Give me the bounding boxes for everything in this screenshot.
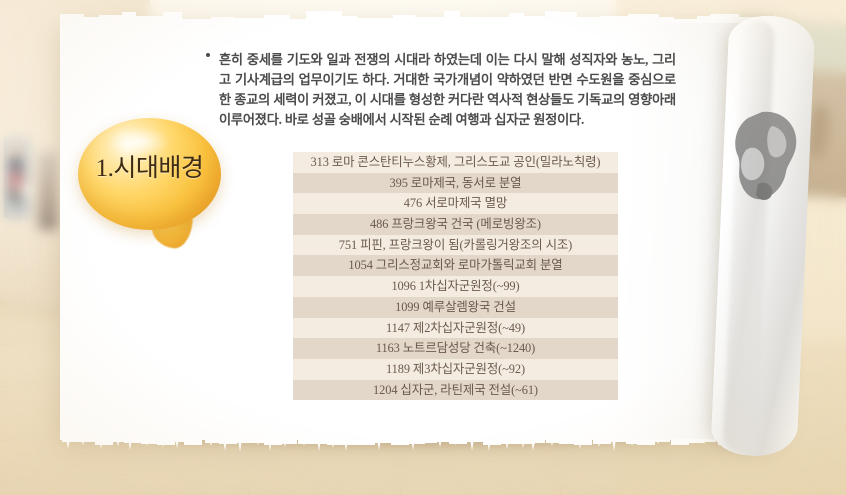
torn-edge-notch (524, 16, 545, 23)
torn-edge-spike (411, 439, 415, 450)
scroll-torn-bottom-edge (60, 439, 776, 452)
table-row-label: 486 프랑크왕국 건국 (메로빙왕조) (370, 217, 541, 231)
torn-edge-notch (279, 439, 297, 444)
torn-edge-spike (612, 439, 616, 451)
torn-edge-spike (531, 439, 535, 451)
torn-edge-notch (659, 17, 674, 23)
torn-edge-notch (95, 439, 113, 445)
title-speech-bubble: 1.시대배경 (78, 118, 226, 248)
table-row-label: 1204 십자군, 라틴제국 전설(~61) (373, 383, 538, 397)
torn-edge-notch (483, 17, 509, 23)
torn-edge-spike (702, 439, 706, 444)
slide-canvas: 흔히 중세를 기도와 일과 전쟁의 시대라 하였는데 이는 다시 말해 성직자와… (0, 0, 846, 495)
torn-edge-notch (211, 17, 235, 23)
torn-edge-spike (331, 439, 335, 448)
table-row: 1163 노트르담성당 건축(~1240) (293, 338, 618, 359)
torn-edge-notch (163, 12, 182, 23)
torn-edge-spike (470, 439, 474, 451)
torn-edge-notch (84, 17, 99, 23)
table-row: 751 피핀, 프랑크왕이 됨(카롤링거왕조의 시조) (293, 235, 618, 256)
table-row-label: 1096 1차십자군원정(~99) (391, 279, 519, 293)
torn-edge-spike (256, 439, 260, 445)
torn-edge-spike (283, 439, 287, 447)
torn-edge-spike (550, 439, 554, 446)
torn-edge-notch (235, 18, 264, 23)
torn-edge-spike (81, 439, 85, 445)
scroll-torn-top-edge (60, 10, 776, 23)
torn-edge-notch (77, 439, 95, 442)
table-row: 313 로마 콘스탄티누스황제, 그리스도교 공인(밀라노칙령) (293, 152, 618, 173)
torn-edge-notch (340, 439, 358, 445)
table-row-label: 1054 그리스정교회와 로마가톨릭교회 분열 (348, 258, 562, 272)
table-row-label: 751 피핀, 프랑크왕이 됨(카롤링거왕조의 시조) (339, 238, 572, 252)
torn-edge-notch (264, 15, 290, 23)
torn-edge-spike (597, 439, 601, 447)
torn-edge-spike (175, 439, 179, 448)
table-row-label: 1189 제3차십자군원정(~92) (386, 362, 525, 376)
torn-edge-spike (361, 439, 365, 444)
torn-edge-spike (641, 439, 645, 445)
table-row-label: 1099 예루살렘왕국 건설 (395, 300, 516, 314)
torn-edge-spike (302, 439, 306, 446)
torn-edge-notch (460, 17, 483, 23)
torn-edge-spike (487, 439, 491, 451)
torn-edge-notch (574, 439, 592, 445)
torn-edge-spike (268, 439, 272, 451)
torn-edge-notch (449, 439, 467, 444)
torn-edge-spike (630, 439, 634, 446)
torn-edge-notch (342, 16, 357, 23)
torn-edge-notch (122, 12, 136, 23)
body-paragraph: 흔히 중세를 기도와 일과 전쟁의 시대라 하였는데 이는 다시 말해 성직자와… (206, 50, 676, 130)
table-row: 1096 1차십자군원정(~99) (293, 276, 618, 297)
table-row: 486 프랑크왕국 건국 (메로빙왕조) (293, 214, 618, 235)
table-row-label: 1147 제2차십자군원정(~49) (386, 321, 525, 335)
paragraph-text: 흔히 중세를 기도와 일과 전쟁의 시대라 하였는데 이는 다시 말해 성직자와… (219, 50, 676, 130)
table-row: 1054 그리스정교회와 로마가톨릭교회 분열 (293, 255, 618, 276)
torn-edge-notch (509, 13, 524, 23)
page-title: 1.시대배경 (78, 148, 221, 184)
torn-edge-notch (628, 14, 659, 23)
torn-edge-notch (124, 439, 142, 443)
torn-edge-spike (145, 439, 149, 446)
torn-edge-spike (66, 439, 70, 449)
torn-edge-spike (317, 439, 321, 451)
torn-edge-spike (423, 439, 427, 444)
torn-edge-notch (415, 17, 444, 23)
torn-edge-spike (675, 439, 679, 445)
torn-edge-notch (373, 439, 391, 443)
torn-edge-spike (656, 439, 660, 444)
torn-edge-notch (652, 439, 670, 442)
torn-edge-spike (438, 439, 442, 447)
table-row: 1099 예루살렘왕국 건설 (293, 297, 618, 318)
torn-edge-spike (344, 439, 348, 451)
torn-edge-notch (608, 439, 626, 442)
torn-edge-spike (690, 439, 694, 444)
torn-edge-notch (601, 16, 628, 23)
torn-edge-spike (453, 439, 457, 445)
bullet-point-icon (206, 53, 210, 57)
torn-edge-notch (357, 18, 393, 23)
torn-edge-notch (698, 439, 716, 442)
torn-edge-spike (395, 439, 399, 445)
torn-edge-notch (577, 17, 601, 23)
torn-edge-notch (306, 11, 342, 23)
torn-edge-notch (444, 11, 460, 23)
torn-edge-spike (99, 439, 103, 449)
torn-edge-spike (505, 439, 509, 449)
torn-edge-notch (182, 19, 211, 23)
chronology-table: 313 로마 콘스탄티누스황제, 그리스도교 공인(밀라노칙령)395 로마제국… (293, 152, 618, 400)
table-row: 1204 십자군, 라틴제국 전설(~61) (293, 380, 618, 401)
torn-edge-spike (161, 439, 165, 447)
table-row-label: 313 로마 콘스탄티누스황제, 그리스도교 공인(밀라노칙령) (311, 155, 601, 169)
torn-edge-notch (234, 439, 252, 443)
table-row-label: 476 서로마제국 멸망 (404, 196, 507, 210)
torn-edge-spike (377, 439, 381, 450)
torn-edge-notch (136, 16, 163, 23)
torn-edge-spike (238, 439, 242, 452)
torn-edge-spike (209, 439, 213, 446)
table-row: 476 서로마제국 멸망 (293, 193, 618, 214)
torn-edge-notch (674, 19, 697, 23)
torn-edge-notch (710, 14, 739, 23)
table-row: 395 로마제국, 동서로 분열 (293, 173, 618, 194)
figure-shadow-blob (728, 110, 806, 206)
torn-edge-spike (563, 439, 567, 444)
torn-edge-notch (527, 439, 545, 443)
table-row: 1147 제2차십자군원정(~49) (293, 318, 618, 339)
torn-edge-notch (393, 15, 415, 23)
torn-edge-notch (290, 19, 306, 23)
torn-edge-notch (99, 15, 122, 23)
torn-edge-notch (559, 12, 577, 23)
torn-edge-notch (483, 439, 501, 445)
torn-edge-notch (60, 14, 84, 23)
torn-edge-notch (184, 439, 202, 445)
torn-edge-spike (128, 439, 132, 450)
torn-edge-notch (545, 11, 559, 23)
torn-edge-notch (466, 439, 484, 442)
torn-edge-notch (697, 16, 710, 23)
table-row-label: 1163 노트르담성당 건축(~1240) (376, 341, 535, 355)
torn-edge-spike (223, 439, 227, 451)
torn-edge-spike (578, 439, 582, 449)
torn-edge-spike (521, 439, 525, 448)
torn-edge-spike (116, 439, 120, 446)
torn-edge-spike (188, 439, 192, 444)
table-row-label: 395 로마제국, 동서로 분열 (390, 176, 522, 190)
table-row: 1189 제3차십자군원정(~92) (293, 359, 618, 380)
